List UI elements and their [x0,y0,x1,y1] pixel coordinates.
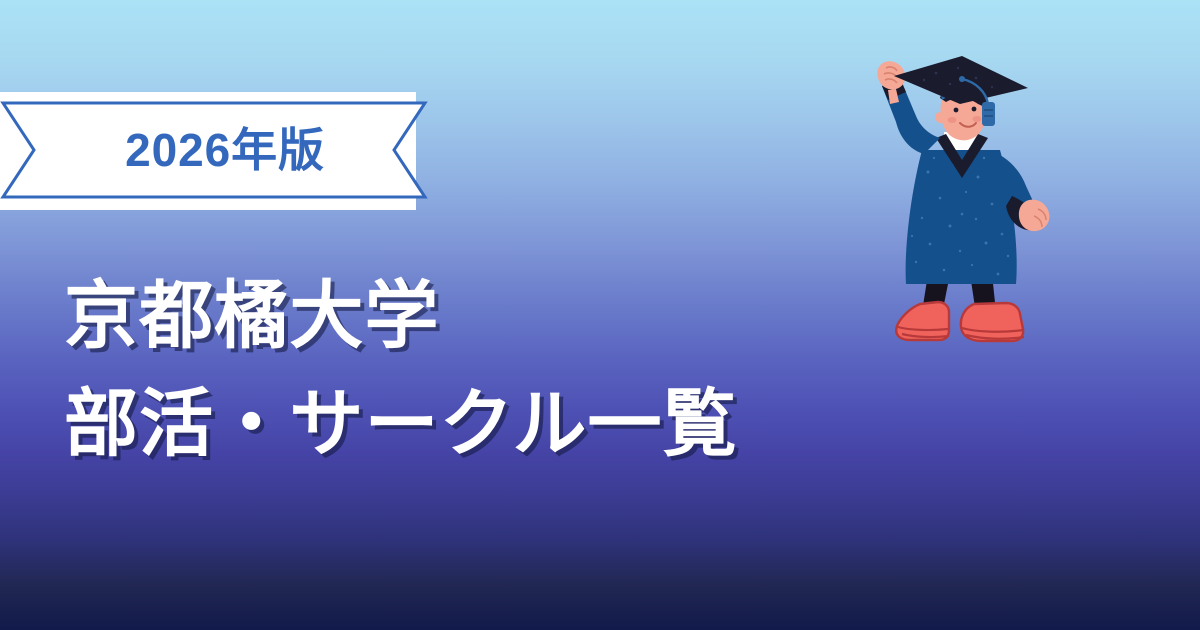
year-ribbon: 2026年版 [0,92,430,214]
og-image-card: 2026年版 京都橘大学 部活・サークル一覧 [0,0,1200,630]
title-line-subject: 部活・サークル一覧 [64,370,894,478]
title-line-university: 京都橘大学 [64,262,894,370]
ribbon-year-label: 2026年版 [0,100,428,200]
right-shoe [961,303,1024,341]
tassel [982,102,995,126]
graduate-student-icon [866,46,1076,351]
page-title: 京都橘大学 部活・サークル一覧 [64,262,894,478]
left-shoe [896,302,949,340]
